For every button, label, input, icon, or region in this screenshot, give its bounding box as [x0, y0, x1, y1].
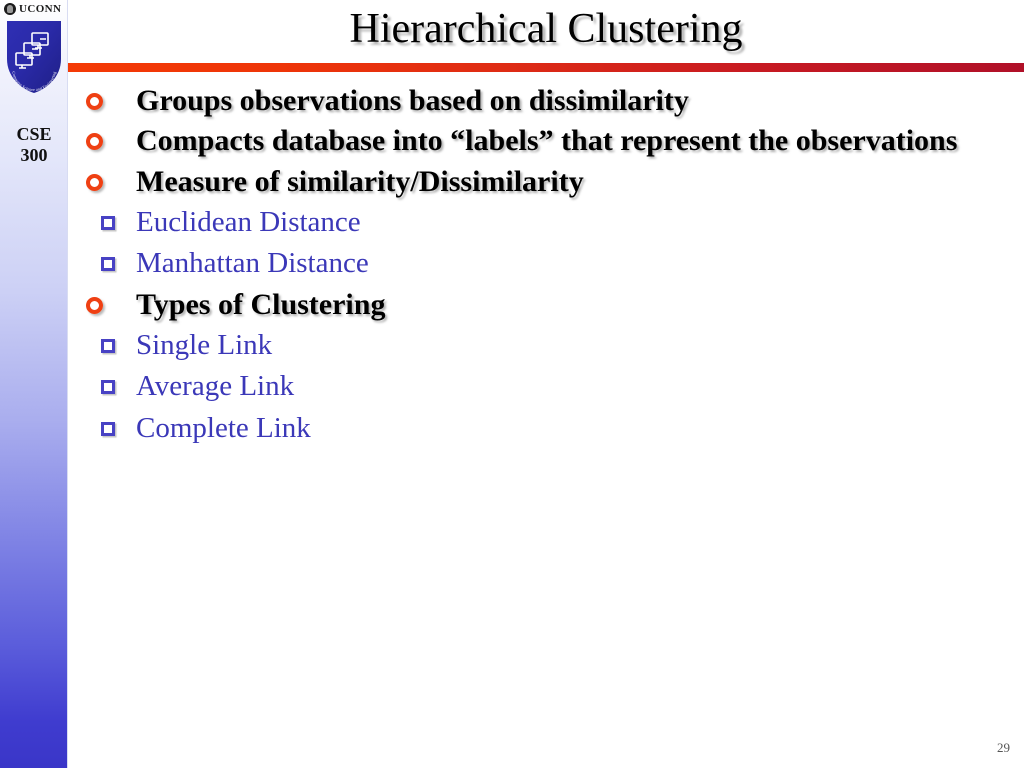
uconn-wordmark: UCONN	[4, 1, 66, 17]
ring-bullet-icon	[86, 174, 103, 191]
sub-bullet-item: Euclidean Distance	[84, 203, 1004, 241]
uconn-seal-icon	[4, 3, 16, 15]
sub-bullet-item: Single Link	[84, 326, 1004, 364]
course-code-line-2: 300	[0, 145, 68, 166]
bullet-label: Groups observations based on dissimilari…	[136, 84, 689, 117]
square-bullet-icon	[101, 380, 115, 394]
square-bullet-icon	[101, 339, 115, 353]
sub-bullet-item: Complete Link	[84, 409, 1004, 447]
sub-bullet-label: Average Link	[136, 370, 294, 402]
square-bullet-icon	[101, 257, 115, 271]
page-number: 29	[997, 740, 1010, 756]
bullet-item: Compacts database into “labels” that rep…	[84, 122, 1004, 160]
ring-bullet-icon	[86, 297, 103, 314]
sidebar: UCONN	[0, 0, 68, 768]
sub-bullet-list: Euclidean Distance Manhattan Distance	[84, 203, 1004, 283]
bullet-list: Groups observations based on dissimilari…	[84, 82, 1004, 447]
sub-bullet-item: Average Link	[84, 367, 1004, 405]
bullet-item: Groups observations based on dissimilari…	[84, 82, 1004, 120]
sub-bullet-label: Manhattan Distance	[136, 247, 369, 279]
title-divider-rule	[68, 63, 1024, 72]
uconn-shield-cse-logo-icon: Computer Science and Engineering	[5, 19, 63, 95]
square-bullet-icon	[101, 216, 115, 230]
sub-bullet-label: Single Link	[136, 329, 272, 361]
course-code: CSE 300	[0, 124, 68, 165]
bullet-label: Measure of similarity/Dissimilarity	[136, 165, 584, 198]
bullet-item: Types of Clustering	[84, 286, 1004, 324]
ring-bullet-icon	[86, 133, 103, 150]
ring-bullet-icon	[86, 93, 103, 110]
sub-bullet-list: Single Link Average Link Complete Link	[84, 326, 1004, 447]
sub-bullet-item: Manhattan Distance	[84, 244, 1004, 282]
square-bullet-icon	[101, 422, 115, 436]
bullet-label: Compacts database into “labels” that rep…	[136, 124, 957, 157]
uconn-wordmark-label: UCONN	[19, 4, 61, 15]
title-block: Hierarchical Clustering	[68, 0, 1024, 58]
bullet-item: Measure of similarity/Dissimilarity	[84, 163, 1004, 201]
course-code-line-1: CSE	[0, 124, 68, 145]
sub-bullet-label: Complete Link	[136, 412, 311, 444]
sub-bullet-label: Euclidean Distance	[136, 206, 361, 238]
page-title: Hierarchical Clustering	[349, 5, 742, 53]
bullet-label: Types of Clustering	[136, 288, 385, 321]
slide-body: Groups observations based on dissimilari…	[84, 82, 1004, 450]
slide: UCONN	[0, 0, 1024, 768]
